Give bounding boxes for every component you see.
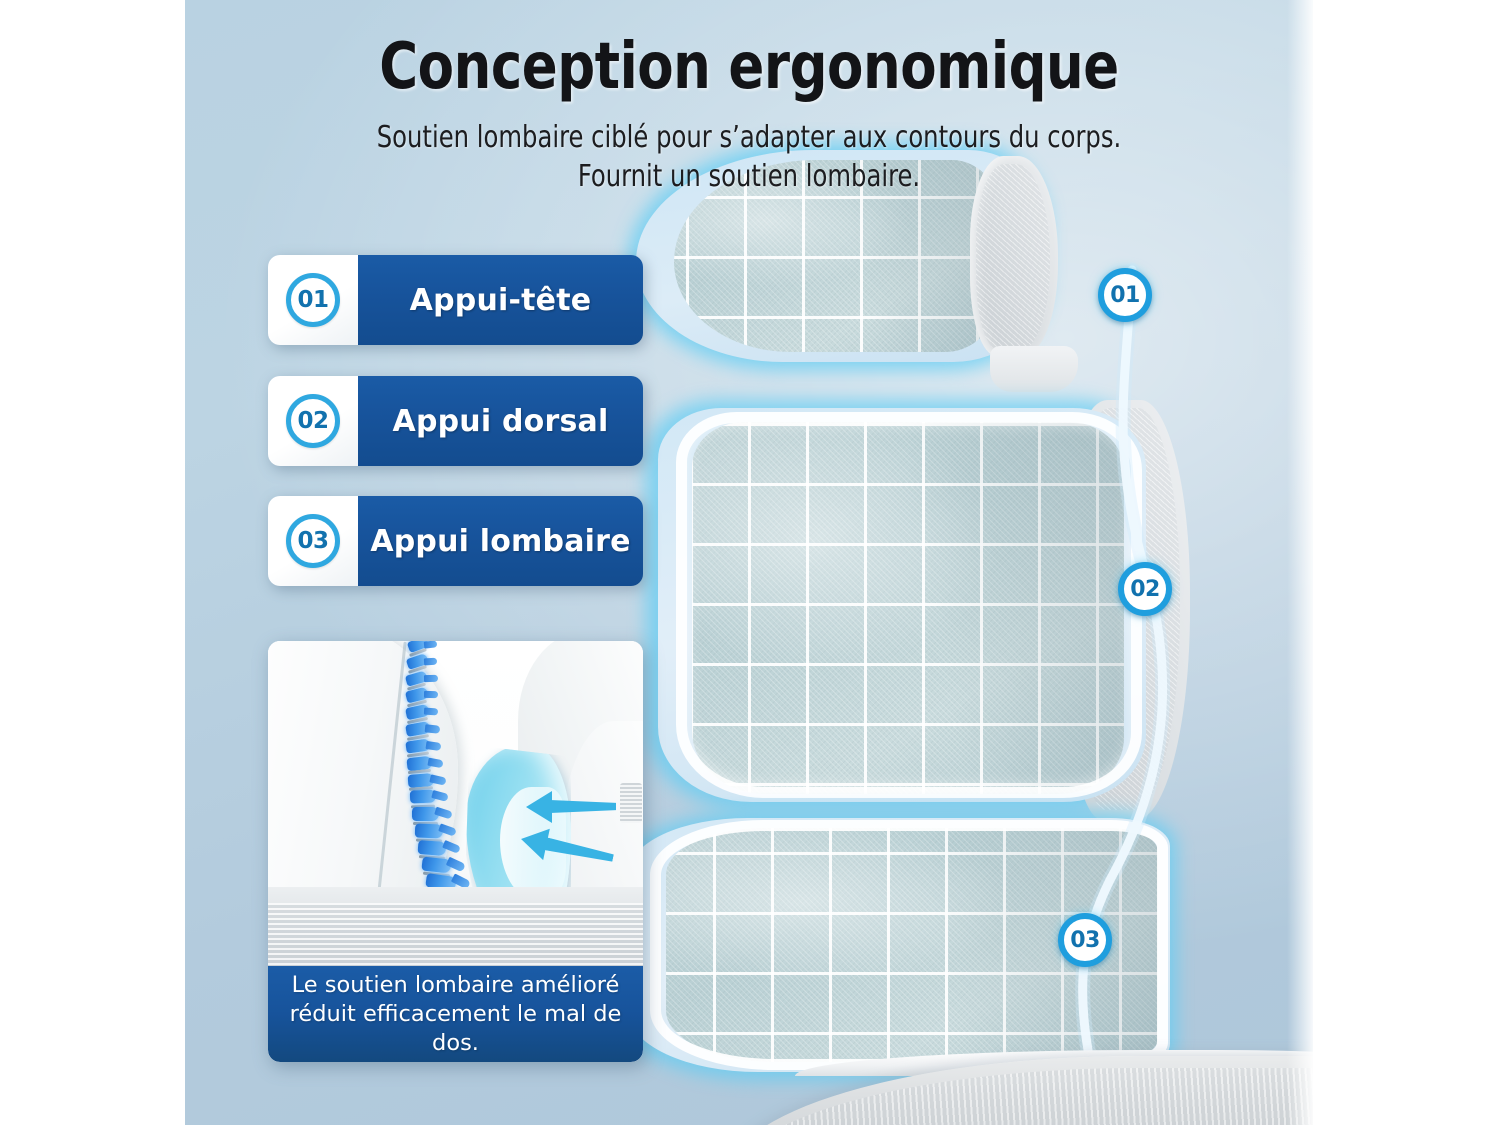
feature-card-headrest[interactable]: 01 Appui-tête <box>268 255 643 345</box>
number-ring-icon: 01 <box>286 273 340 327</box>
chair-callout-badge-01[interactable]: 01 <box>1098 268 1152 322</box>
badge-number: 02 <box>1130 577 1160 602</box>
inset-caption-text: Le soutien lombaire amélioré réduit effi… <box>268 971 643 1058</box>
lumbar-support-inset-card: Le soutien lombaire amélioré réduit effi… <box>268 641 643 1062</box>
feature-card-lumbar[interactable]: 03 Appui lombaire <box>268 496 643 586</box>
feature-number-box: 02 <box>268 376 358 466</box>
feature-label-bar: Appui-tête <box>358 255 643 345</box>
feature-label: Appui-tête <box>410 283 592 318</box>
spinous-process <box>425 724 440 733</box>
spine-illustration <box>268 641 643 971</box>
chair-callout-badge-03[interactable]: 03 <box>1058 913 1112 967</box>
inset-seat-texture <box>268 903 643 971</box>
feature-number: 01 <box>297 287 328 313</box>
spinous-process <box>424 691 438 699</box>
page-title: Conception ergonomique <box>230 30 1268 104</box>
page-subtitle: Soutien lombaire ciblé pour s’adapter au… <box>241 118 1256 196</box>
feature-number: 03 <box>297 528 328 554</box>
badge-number: 01 <box>1110 283 1140 308</box>
number-ring-icon: 03 <box>286 514 340 568</box>
panel-right-feather <box>1287 0 1313 1125</box>
chair-callout-badge-02[interactable]: 02 <box>1118 562 1172 616</box>
subtitle-line-2: Fournit un soutien lombaire. <box>241 157 1256 196</box>
pressure-arrow-icon-1 <box>526 791 618 823</box>
badge-number: 03 <box>1070 928 1100 953</box>
content-panel: 01 02 03 Conception ergonomique Soutien … <box>185 0 1313 1125</box>
feature-label: Appui lombaire <box>370 524 630 559</box>
feature-card-backrest[interactable]: 02 Appui dorsal <box>268 376 643 466</box>
office-chair-illustration: 01 02 03 <box>640 150 1313 1125</box>
spinous-process <box>424 657 438 665</box>
feature-number-box: 01 <box>268 255 358 345</box>
spinous-process <box>424 641 438 649</box>
feature-number: 02 <box>297 408 328 434</box>
backrest-mesh <box>692 422 1124 794</box>
feature-label: Appui dorsal <box>393 404 609 439</box>
spinous-process <box>424 674 438 682</box>
subtitle-line-1: Soutien lombaire ciblé pour s’adapter au… <box>241 118 1256 157</box>
feature-number-box: 03 <box>268 496 358 586</box>
inset-caption-bar: Le soutien lombaire amélioré réduit effi… <box>268 966 643 1062</box>
infographic-canvas: 01 02 03 Conception ergonomique Soutien … <box>0 0 1500 1125</box>
inset-mechanism-ridges <box>620 783 642 823</box>
feature-label-bar: Appui lombaire <box>358 496 643 586</box>
mesh-shading <box>692 422 1124 794</box>
number-ring-icon: 02 <box>286 394 340 448</box>
feature-label-bar: Appui dorsal <box>358 376 643 466</box>
headrest-stem <box>990 346 1078 392</box>
